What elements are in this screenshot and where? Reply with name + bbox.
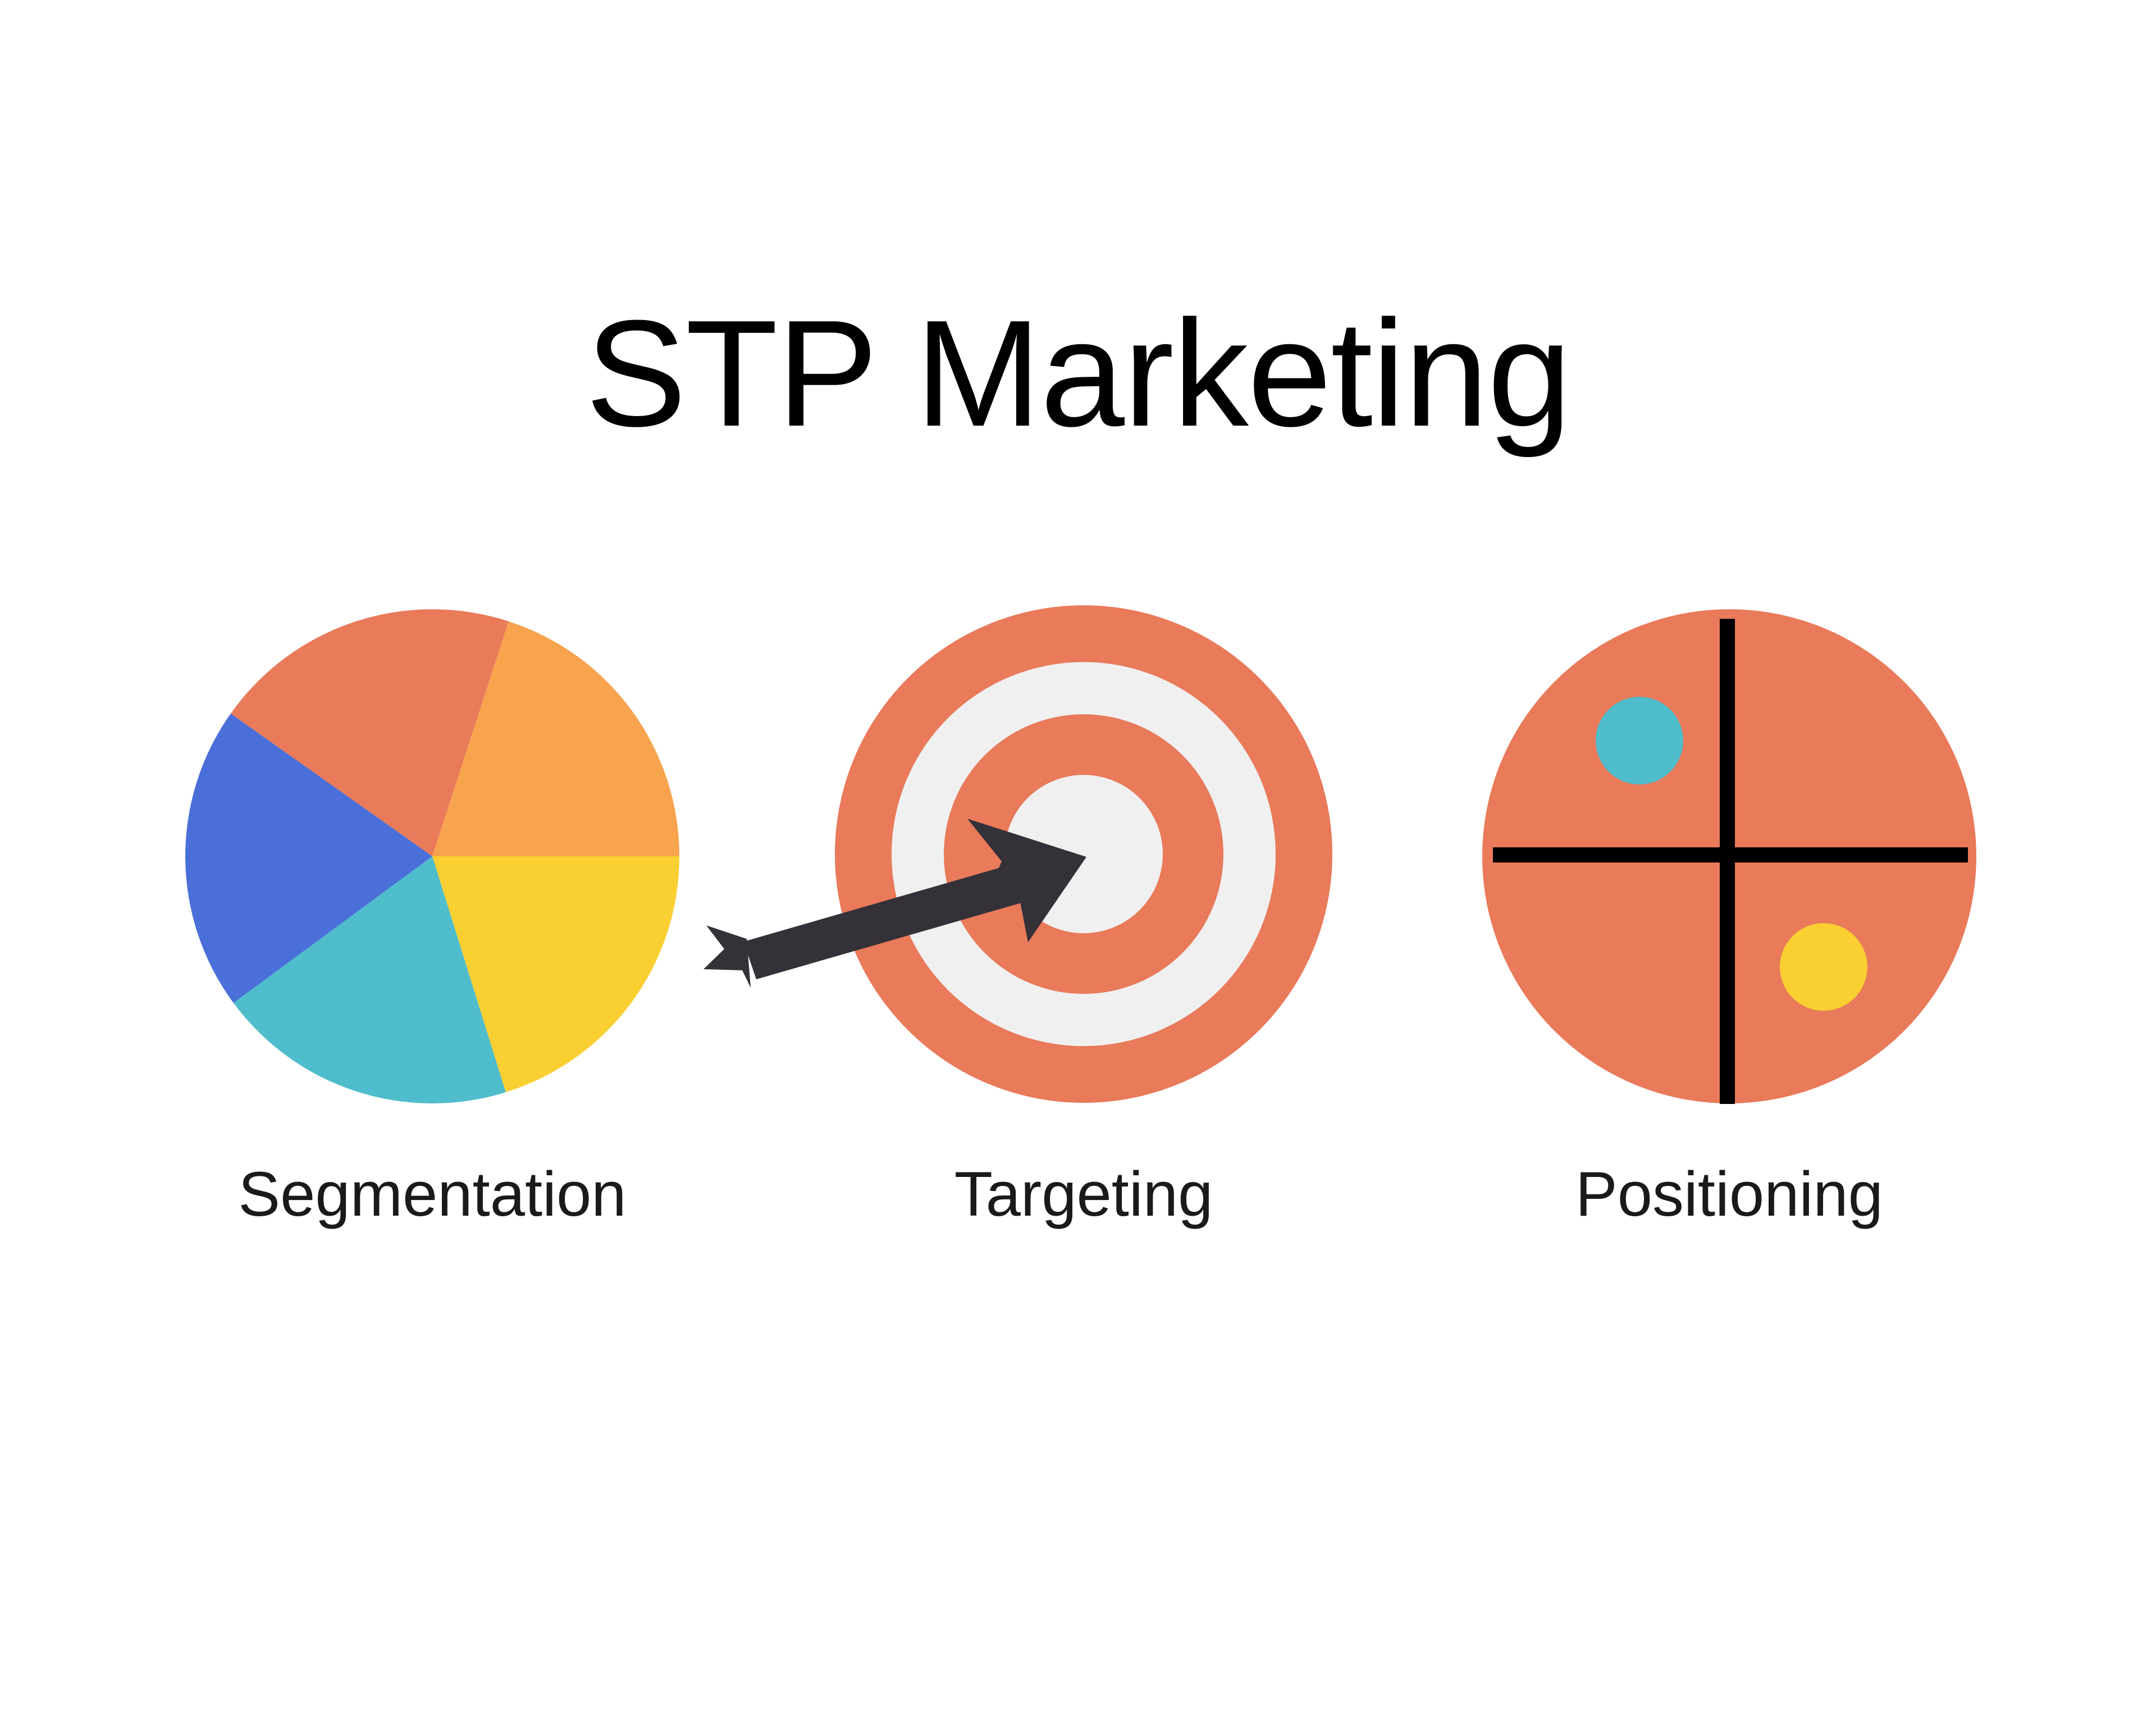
- label-positioning: Positioning: [1420, 1157, 2038, 1232]
- page-title: STP Marketing: [0, 298, 2156, 450]
- perceptual-map-icon: [1482, 609, 1976, 1104]
- pie-chart-icon: [185, 609, 679, 1103]
- label-targeting: Targeting: [775, 1157, 1392, 1232]
- positioning-horizontal-axis: [1493, 847, 1968, 862]
- label-segmentation: Segmentation: [124, 1157, 741, 1232]
- arrow-fletching: [704, 925, 751, 988]
- target-with-arrow-icon: [704, 605, 1332, 1103]
- label-row: Segmentation Targeting Positioning: [0, 1157, 2156, 1269]
- poster-canvas: STP Marketing: [0, 0, 2156, 1725]
- positioning-teal-point: [1596, 697, 1683, 784]
- positioning-yellow-point: [1780, 923, 1867, 1011]
